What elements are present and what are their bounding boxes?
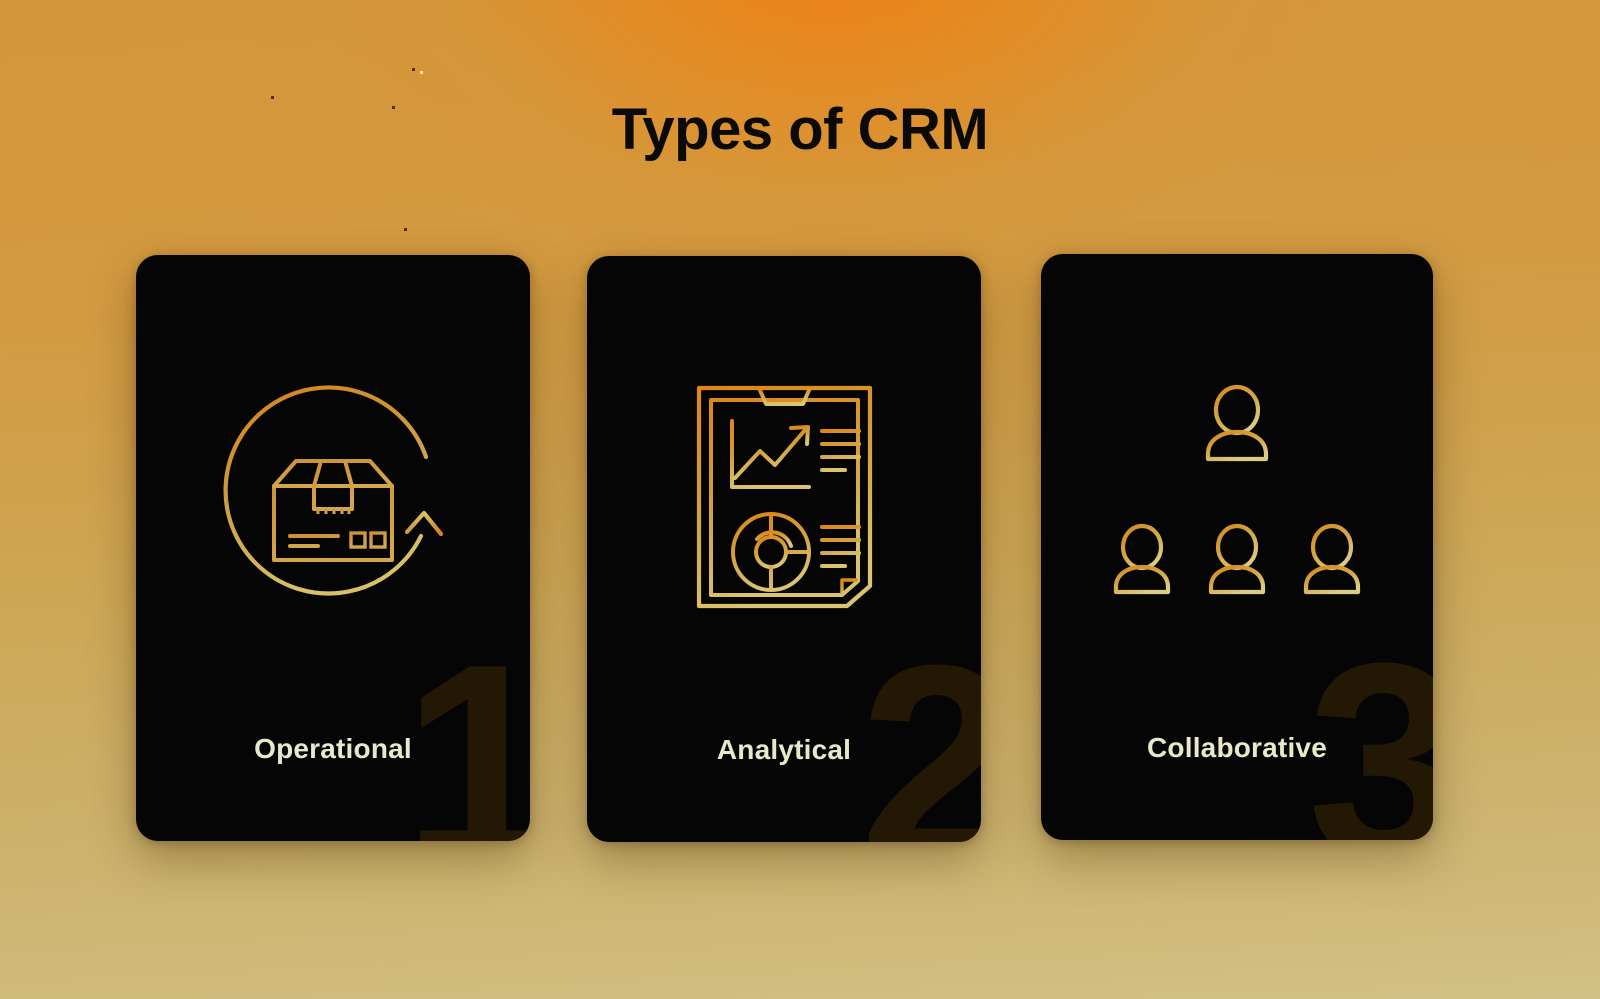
card-operational[interactable]: 1 <box>136 255 530 841</box>
slide-canvas: Types of CRM 1 <box>0 0 1600 999</box>
card-analytical[interactable]: 2 <box>587 256 981 842</box>
report-clipboard-chart-icon <box>587 366 981 626</box>
page-title: Types of CRM <box>0 96 1600 163</box>
background-speck <box>404 228 407 231</box>
card-label: Collaborative <box>1041 732 1433 764</box>
card-number-badge: 3 <box>1307 622 1433 840</box>
package-refresh-icon <box>136 365 530 625</box>
card-number-badge: 1 <box>402 623 530 841</box>
org-chart-users-icon <box>1041 364 1433 624</box>
card-label: Analytical <box>587 734 981 766</box>
card-collaborative[interactable]: 3 <box>1041 254 1433 840</box>
card-label: Operational <box>136 733 530 765</box>
background-speck <box>412 68 415 71</box>
background-speck <box>420 71 423 74</box>
card-number-badge: 2 <box>859 624 981 842</box>
